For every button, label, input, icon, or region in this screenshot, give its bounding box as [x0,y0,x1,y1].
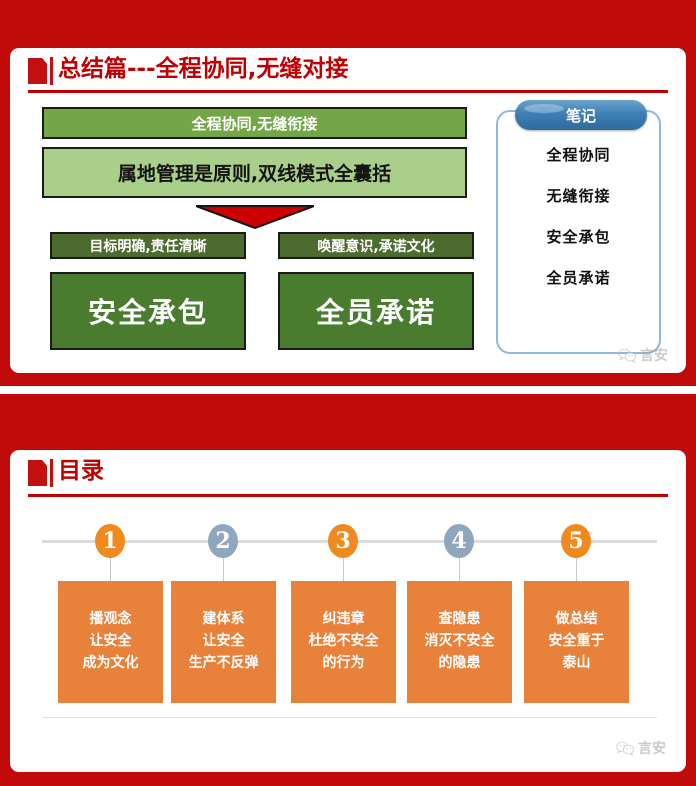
slide-summary-card: 总结篇---全程协同,无缝对接 全程协同,无缝衔接 属地管理是原则,双线模式全囊… [10,48,686,373]
header-rule [28,90,668,93]
timeline-card-2[interactable]: 建体系 让安全 生产不反弹 [171,581,276,703]
timeline-node-3[interactable]: 3 [328,524,358,558]
timeline-card-4[interactable]: 查隐患 消灭不安全 的隐患 [407,581,512,703]
note-item: 全程协同 [496,144,661,165]
watermark-text: 言安 [638,738,666,758]
note-item: 无缝衔接 [496,185,661,206]
timeline-stem-2 [223,558,224,581]
highlight-box-left: 安全承包 [50,272,246,350]
slide-contents-header: 目录 [10,450,686,492]
timeline-node-5[interactable]: 5 [561,524,591,558]
timeline-stem-5 [576,558,577,581]
timeline-card-text-2: 建体系 让安全 生产不反弹 [189,609,259,674]
timeline-stem-4 [459,558,460,581]
slide-deck: 总结篇---全程协同,无缝对接 全程协同,无缝衔接 属地管理是原则,双线模式全囊… [0,0,696,786]
page-title: 目录 [58,456,104,486]
note-item-list: 全程协同 无缝衔接 安全承包 全员承诺 [496,144,661,308]
page-title: 总结篇---全程协同,无缝对接 [58,54,348,84]
timeline-card-3[interactable]: 纠违章 杜绝不安全 的行为 [291,581,396,703]
down-chevron-arrow-icon [196,205,314,229]
timeline-card-1[interactable]: 播观念 让安全 成为文化 [58,581,163,703]
watermark-text: 言安 [640,345,668,365]
highlight-box-right: 全员承诺 [278,272,474,350]
note-item: 全员承诺 [496,267,661,288]
timeline-stem-3 [343,558,344,581]
watermark: 言安 [618,345,668,365]
header-rule [28,494,668,497]
timeline-bottom-rule [42,717,657,718]
wechat-logo-icon [618,348,637,363]
timeline-card-5[interactable]: 做总结 安全重于 泰山 [524,581,629,703]
timeline-card-text-5: 做总结 安全重于 泰山 [549,609,605,674]
watermark: 言安 [616,738,666,758]
slide-summary-header: 总结篇---全程协同,无缝对接 [10,48,686,90]
timeline-stem-1 [110,558,111,581]
note-panel-tab: 笔记 [515,100,647,130]
sub-box-left: 目标明确,责任清晰 [50,232,246,259]
timeline-node-1[interactable]: 1 [95,524,125,558]
timeline-node-4[interactable]: 4 [444,524,474,558]
sub-box-right: 唤醒意识,承诺文化 [278,232,474,259]
timeline-card-text-4: 查隐患 消灭不安全 的隐患 [425,609,495,674]
timeline-node-2[interactable]: 2 [208,524,238,558]
slide-summary: 总结篇---全程协同,无缝对接 全程协同,无缝衔接 属地管理是原则,双线模式全囊… [0,0,696,386]
red-page-flag-icon [28,460,47,486]
header-accent-bar [50,459,53,487]
principle-box: 属地管理是原则,双线模式全囊括 [42,147,467,198]
wechat-logo-icon [616,741,635,756]
timeline-card-text-3: 纠违章 杜绝不安全 的行为 [309,609,379,674]
red-page-flag-icon [28,58,47,84]
header-accent-bar [50,57,53,85]
slide-contents-card: 目录 1 播观念 让安全 成为文化 2 建体系 让安全 [10,450,686,772]
banner-box: 全程协同,无缝衔接 [42,107,467,139]
slide-contents: 目录 1 播观念 让安全 成为文化 2 建体系 让安全 [0,394,696,786]
timeline-card-text-1: 播观念 让安全 成为文化 [83,609,139,674]
note-item: 安全承包 [496,226,661,247]
